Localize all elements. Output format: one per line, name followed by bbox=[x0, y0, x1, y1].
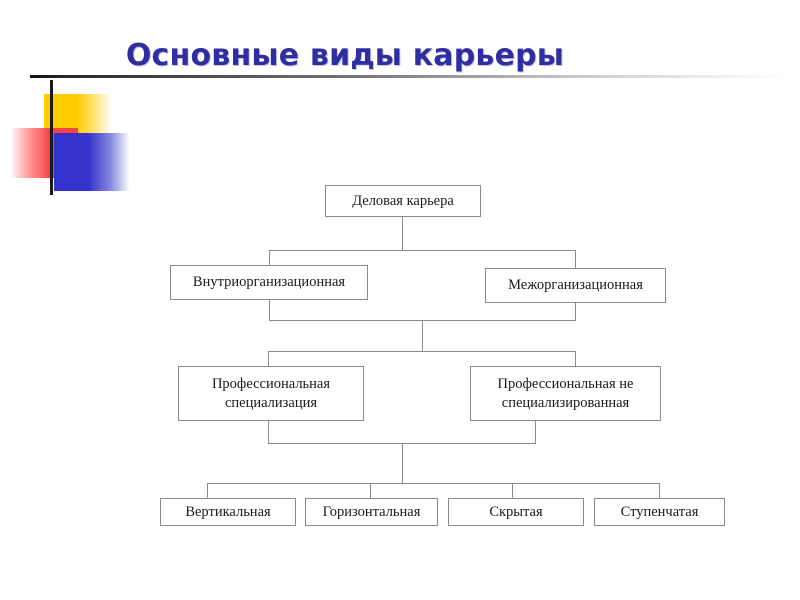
connector-to-node4 bbox=[575, 351, 576, 366]
connector-level2-bus bbox=[268, 351, 576, 352]
node-label: Межорганизационная bbox=[508, 276, 643, 294]
connector-node1-down bbox=[269, 299, 270, 320]
node-vertikalnaya[interactable]: Вертикальная bbox=[160, 498, 296, 526]
node-label: Вертикальная bbox=[185, 503, 270, 521]
node-label: Горизонтальная bbox=[323, 503, 421, 521]
node-mezhorganizacionnaya[interactable]: Межорганизационная bbox=[485, 268, 666, 303]
connector-to-node8 bbox=[659, 483, 660, 498]
node-label: Внутриорганизационная bbox=[193, 273, 345, 291]
node-label-line1: Профессиональная не bbox=[498, 375, 634, 393]
slide-canvas: Основные виды карьеры bbox=[0, 0, 800, 600]
org-chart: Деловая карьера Внутриорганизационная Ме… bbox=[0, 0, 800, 600]
node-vnutriorganizacionnaya[interactable]: Внутриорганизационная bbox=[170, 265, 368, 300]
connector-level2-stem bbox=[422, 320, 423, 351]
connector-to-node2 bbox=[575, 250, 576, 268]
node-label-line2: специализация bbox=[225, 394, 317, 412]
connector-to-node6 bbox=[370, 483, 371, 498]
connector-to-node5 bbox=[207, 483, 208, 498]
connector-to-node3 bbox=[268, 351, 269, 366]
connector-node2-down bbox=[575, 302, 576, 320]
connector-root-stem bbox=[402, 216, 403, 250]
node-stupenchataya[interactable]: Ступенчатая bbox=[594, 498, 725, 526]
node-label-line2: специализированная bbox=[502, 394, 629, 412]
node-label: Ступенчатая bbox=[621, 503, 699, 521]
connector-to-node1 bbox=[269, 250, 270, 265]
connector-to-node7 bbox=[512, 483, 513, 498]
connector-level3-stem bbox=[402, 443, 403, 483]
node-professionalnaya-specializaciya[interactable]: Профессиональная специализация bbox=[178, 366, 364, 421]
node-label: Деловая карьера bbox=[352, 192, 454, 210]
node-delovaya-karera[interactable]: Деловая карьера bbox=[325, 185, 481, 217]
node-gorizontalnaya[interactable]: Горизонтальная bbox=[305, 498, 438, 526]
connector-level1-bus bbox=[269, 250, 576, 251]
node-professionalnaya-ne-specializirovannaya[interactable]: Профессиональная не специализированная bbox=[470, 366, 661, 421]
node-label-line1: Профессиональная bbox=[212, 375, 330, 393]
connector-level3-bus bbox=[207, 483, 660, 484]
node-skrytaya[interactable]: Скрытая bbox=[448, 498, 584, 526]
connector-node3-down bbox=[268, 420, 269, 443]
node-label: Скрытая bbox=[489, 503, 542, 521]
connector-node4-down bbox=[535, 420, 536, 443]
